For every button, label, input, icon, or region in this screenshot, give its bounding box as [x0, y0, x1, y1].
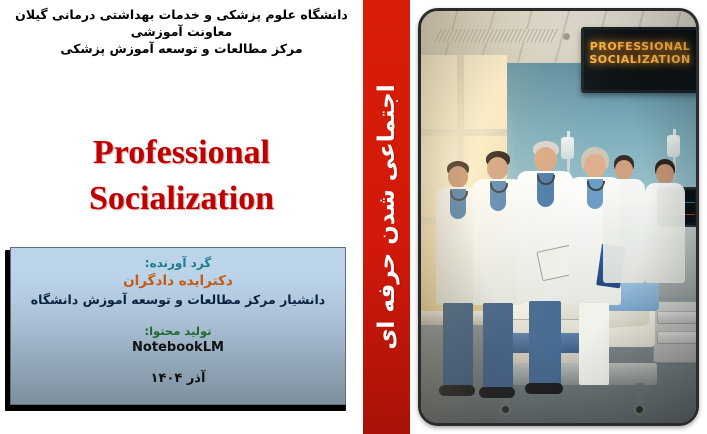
author-label: گرد آورنده: — [11, 255, 345, 271]
screen-text-line-1: PROFESSIONAL — [584, 40, 696, 53]
bedside-drawer-1 — [657, 311, 696, 324]
header-line-deputy: معاونت آموزشی — [0, 23, 363, 40]
spacer-2 — [11, 357, 345, 370]
header-line-center: مرکز مطالعات و توسعه آموزش پزشکی — [0, 40, 363, 57]
spacer — [11, 308, 345, 324]
legs — [529, 301, 561, 385]
left-content-panel: دانشگاه علوم پزشکی و خدمات بهداشتی درمان… — [0, 0, 363, 434]
lab-coat — [645, 183, 685, 283]
page-title: Professional Socialization — [0, 130, 363, 222]
head — [487, 157, 508, 180]
head — [656, 164, 674, 184]
hospital-photo: PROFESSIONAL SOCIALIZATION — [418, 8, 699, 426]
head — [448, 166, 468, 188]
publication-date: آذر ۱۴۰۴ — [11, 370, 345, 388]
shoe — [479, 387, 515, 398]
legs — [579, 303, 609, 385]
staff-figure-2 — [473, 151, 523, 413]
title-line-2: Socialization — [0, 176, 363, 222]
staff-figure-6-background — [645, 159, 685, 305]
author-name: دکترایده دادگران — [11, 272, 345, 290]
staff-figure-3-senior-doctor — [517, 141, 573, 411]
header-line-university: دانشگاه علوم پزشکی و خدمات بهداشتی درمان… — [0, 6, 363, 23]
vertical-red-banner: اجتماعی شدن حرفه ای — [363, 0, 410, 434]
title-line-1: Professional — [0, 130, 363, 176]
info-box: گرد آورنده: دکترایده دادگران دانشیار مرک… — [10, 247, 346, 405]
content-production-label: تولید محتوا: — [11, 324, 345, 339]
legs — [483, 303, 513, 389]
wall-display-screen: PROFESSIONAL SOCIALIZATION — [581, 27, 696, 93]
bed-wheel-2 — [633, 403, 646, 416]
screen-text-line-2: SOCIALIZATION — [584, 53, 696, 66]
head — [615, 160, 633, 180]
photo-scene: PROFESSIONAL SOCIALIZATION — [421, 11, 696, 423]
institution-header: دانشگاه علوم پزشکی و خدمات بهداشتی درمان… — [0, 6, 363, 57]
slide-root: دانشگاه علوم پزشکی و خدمات بهداشتی درمان… — [0, 0, 707, 434]
lab-coat — [603, 179, 645, 283]
head — [534, 147, 557, 172]
shoe — [439, 385, 475, 396]
vertical-banner-text: اجتماعی شدن حرفه ای — [374, 84, 400, 349]
bedside-table — [653, 301, 696, 363]
iv-bag-2 — [667, 135, 680, 157]
author-affiliation: دانشیار مرکز مطالعات و توسعه آموزش دانشگ… — [11, 291, 345, 308]
screen-text: PROFESSIONAL SOCIALIZATION — [584, 40, 696, 66]
legs — [443, 303, 473, 387]
ceiling-vent — [434, 29, 561, 43]
shoe — [525, 383, 563, 394]
staff-figure-5-background — [603, 155, 645, 305]
ceiling-sensor — [563, 33, 570, 40]
content-production-value: NotebookLM — [11, 339, 345, 357]
bedside-drawer-2 — [657, 331, 696, 344]
